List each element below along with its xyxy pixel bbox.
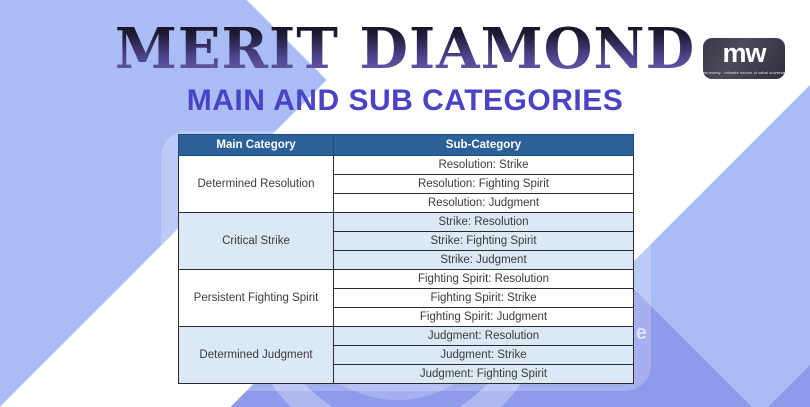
slide-canvas: MERIT DIAMOND MAIN AND SUB CATEGORIES mw… (0, 0, 810, 407)
table-row: Persistent Fighting SpiritFighting Spiri… (179, 270, 634, 289)
sub-category-cell: Fighting Spirit: Resolution (334, 270, 634, 289)
sub-category-cell: Resolution: Fighting Spirit (334, 175, 634, 194)
sub-category-cell: Judgment: Strike (334, 346, 634, 365)
sub-category-cell: Resolution: Strike (334, 156, 634, 175)
page-subtitle: MAIN AND SUB CATEGORIES (0, 85, 810, 117)
sub-category-cell: Fighting Spirit: Strike (334, 289, 634, 308)
column-header-sub-category: Sub-Category (334, 135, 634, 156)
table-head: Main Category Sub-Category (179, 135, 634, 156)
column-header-main-category: Main Category (179, 135, 334, 156)
table-row: Determined JudgmentJudgment: Resolution (179, 327, 634, 346)
sub-category-cell: Resolution: Judgment (334, 194, 634, 213)
table-row: Determined ResolutionResolution: Strike (179, 156, 634, 175)
sub-category-cell: Strike: Fighting Spirit (334, 232, 634, 251)
sub-category-cell: Fighting Spirit: Judgment (334, 308, 634, 327)
sub-category-cell: Judgment: Fighting Spirit (334, 365, 634, 384)
main-category-cell: Critical Strike (179, 213, 334, 270)
main-category-cell: Persistent Fighting Spirit (179, 270, 334, 327)
table-row: Critical StrikeStrike: Resolution (179, 213, 634, 232)
categories-table: Main Category Sub-Category Determined Re… (178, 134, 634, 384)
main-category-cell: Determined Resolution (179, 156, 334, 213)
sub-category-cell: Judgment: Resolution (334, 327, 634, 346)
header: MERIT DIAMOND MAIN AND SUB CATEGORIES (0, 0, 810, 126)
table-header-row: Main Category Sub-Category (179, 135, 634, 156)
main-category-cell: Determined Judgment (179, 327, 334, 384)
table-body: Determined ResolutionResolution: StrikeR… (179, 156, 634, 384)
page-title: MERIT DIAMOND (0, 20, 810, 78)
sub-category-cell: Strike: Judgment (334, 251, 634, 270)
sub-category-cell: Strike: Resolution (334, 213, 634, 232)
categories-table-container: Main Category Sub-Category Determined Re… (178, 134, 633, 384)
